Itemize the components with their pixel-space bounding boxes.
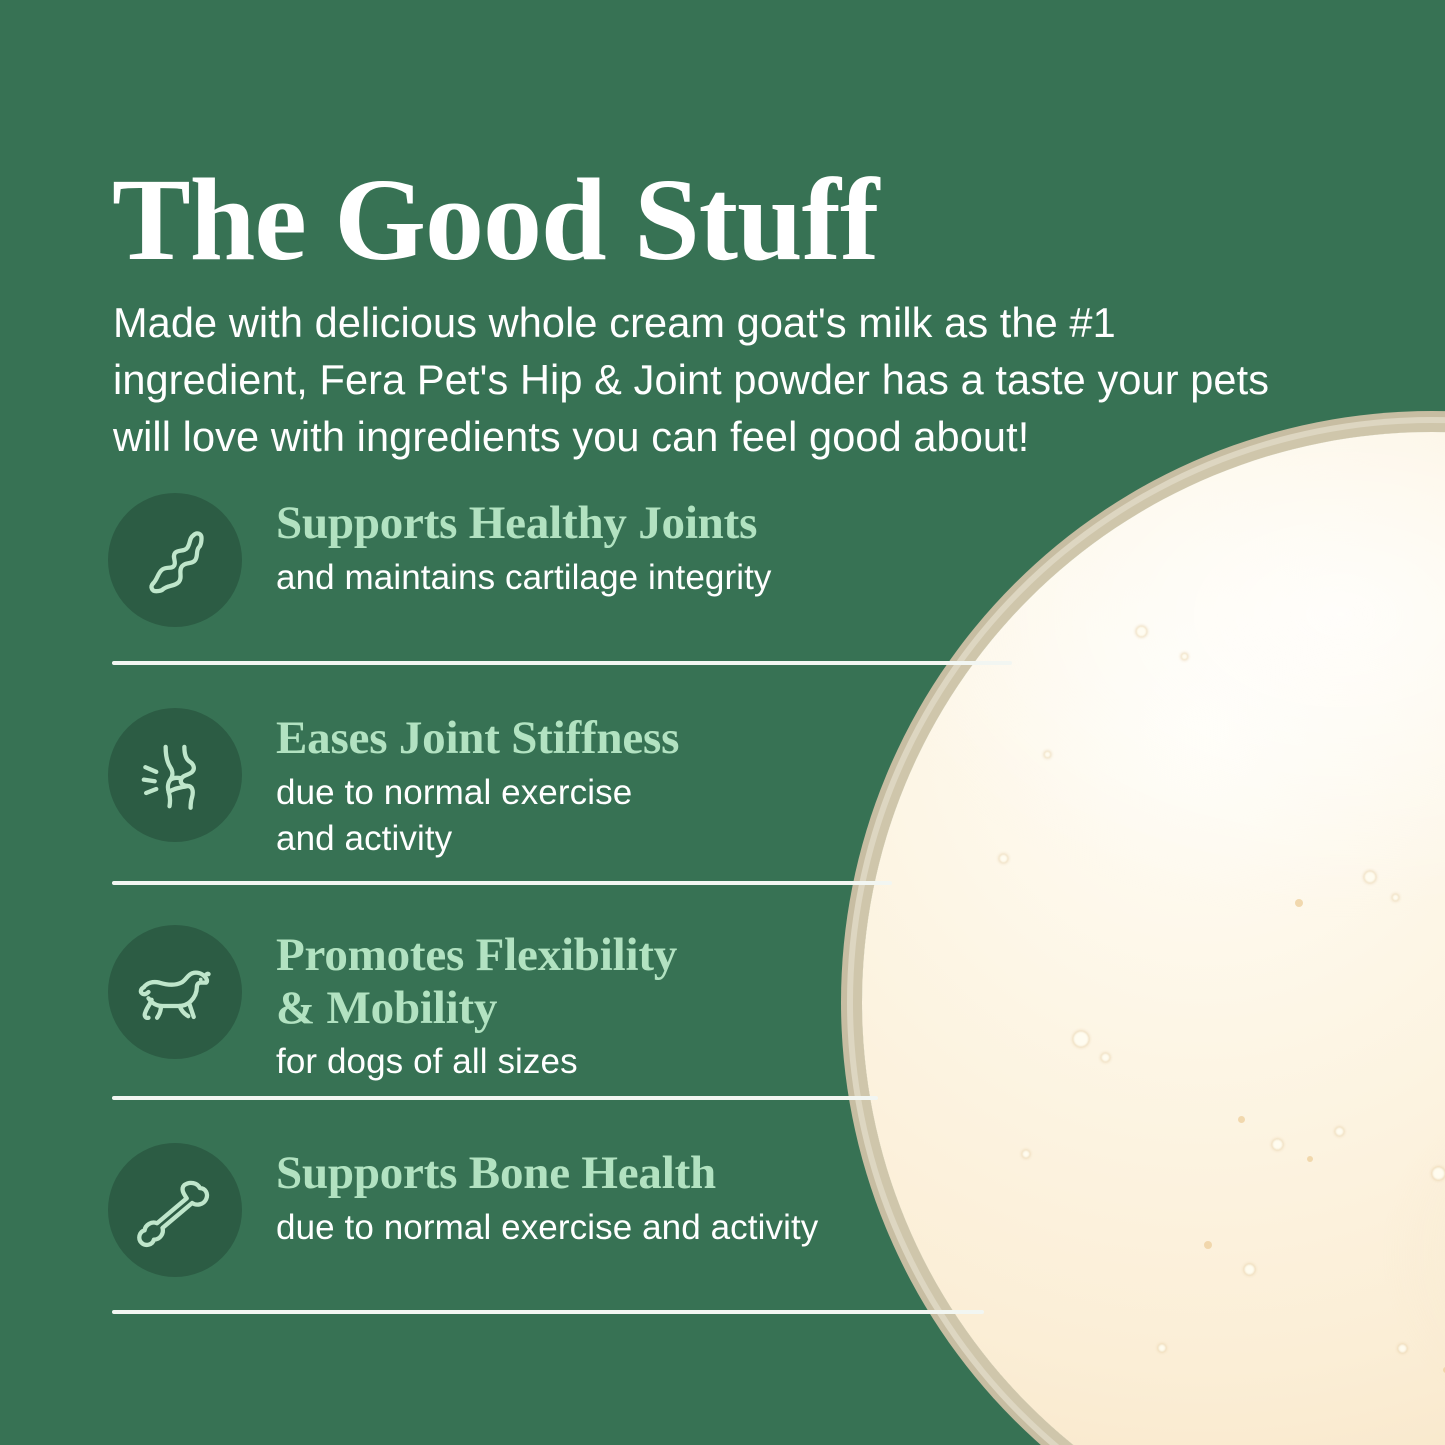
running-dog-icon: [108, 925, 242, 1059]
benefit-subtitle: due to normal exercise and activity: [276, 770, 679, 862]
benefit-subtitle: for dogs of all sizes: [276, 1039, 677, 1085]
benefit-title: Supports Bone Health: [276, 1147, 818, 1200]
benefit-row-bone-health: Supports Bone Health due to normal exerc…: [108, 1143, 818, 1277]
divider-1: [112, 661, 1012, 665]
benefit-text-flexibility-mobility: Promotes Flexibility & Mobility for dogs…: [276, 925, 677, 1085]
knee-joint-pain-icon: [108, 708, 242, 842]
benefit-subtitle: due to normal exercise and activity: [276, 1205, 818, 1251]
divider-2: [112, 881, 892, 885]
benefit-text-healthy-joints: Supports Healthy Joints and maintains ca…: [276, 493, 772, 601]
dog-bone-icon: [108, 1143, 242, 1277]
joint-bones-icon: [108, 493, 242, 627]
infographic-canvas: The Good Stuff Made with delicious whole…: [0, 0, 1445, 1445]
benefit-text-bone-health: Supports Bone Health due to normal exerc…: [276, 1143, 818, 1251]
product-photo-cream-tub: [862, 432, 1445, 1445]
benefit-row-healthy-joints: Supports Healthy Joints and maintains ca…: [108, 493, 772, 627]
intro-paragraph: Made with delicious whole cream goat's m…: [113, 294, 1293, 466]
divider-3: [112, 1096, 878, 1100]
benefit-row-flexibility-mobility: Promotes Flexibility & Mobility for dogs…: [108, 925, 677, 1085]
benefit-title: Supports Healthy Joints: [276, 497, 772, 550]
photo-bubbles: [862, 432, 1445, 1445]
divider-4: [112, 1310, 984, 1314]
benefit-title: Eases Joint Stiffness: [276, 712, 679, 765]
benefit-subtitle: and maintains cartilage integrity: [276, 555, 772, 601]
page-title: The Good Stuff: [112, 157, 1122, 282]
benefit-title: Promotes Flexibility & Mobility: [276, 929, 677, 1034]
benefit-row-joint-stiffness: Eases Joint Stiffness due to normal exer…: [108, 708, 679, 862]
benefit-text-joint-stiffness: Eases Joint Stiffness due to normal exer…: [276, 708, 679, 862]
